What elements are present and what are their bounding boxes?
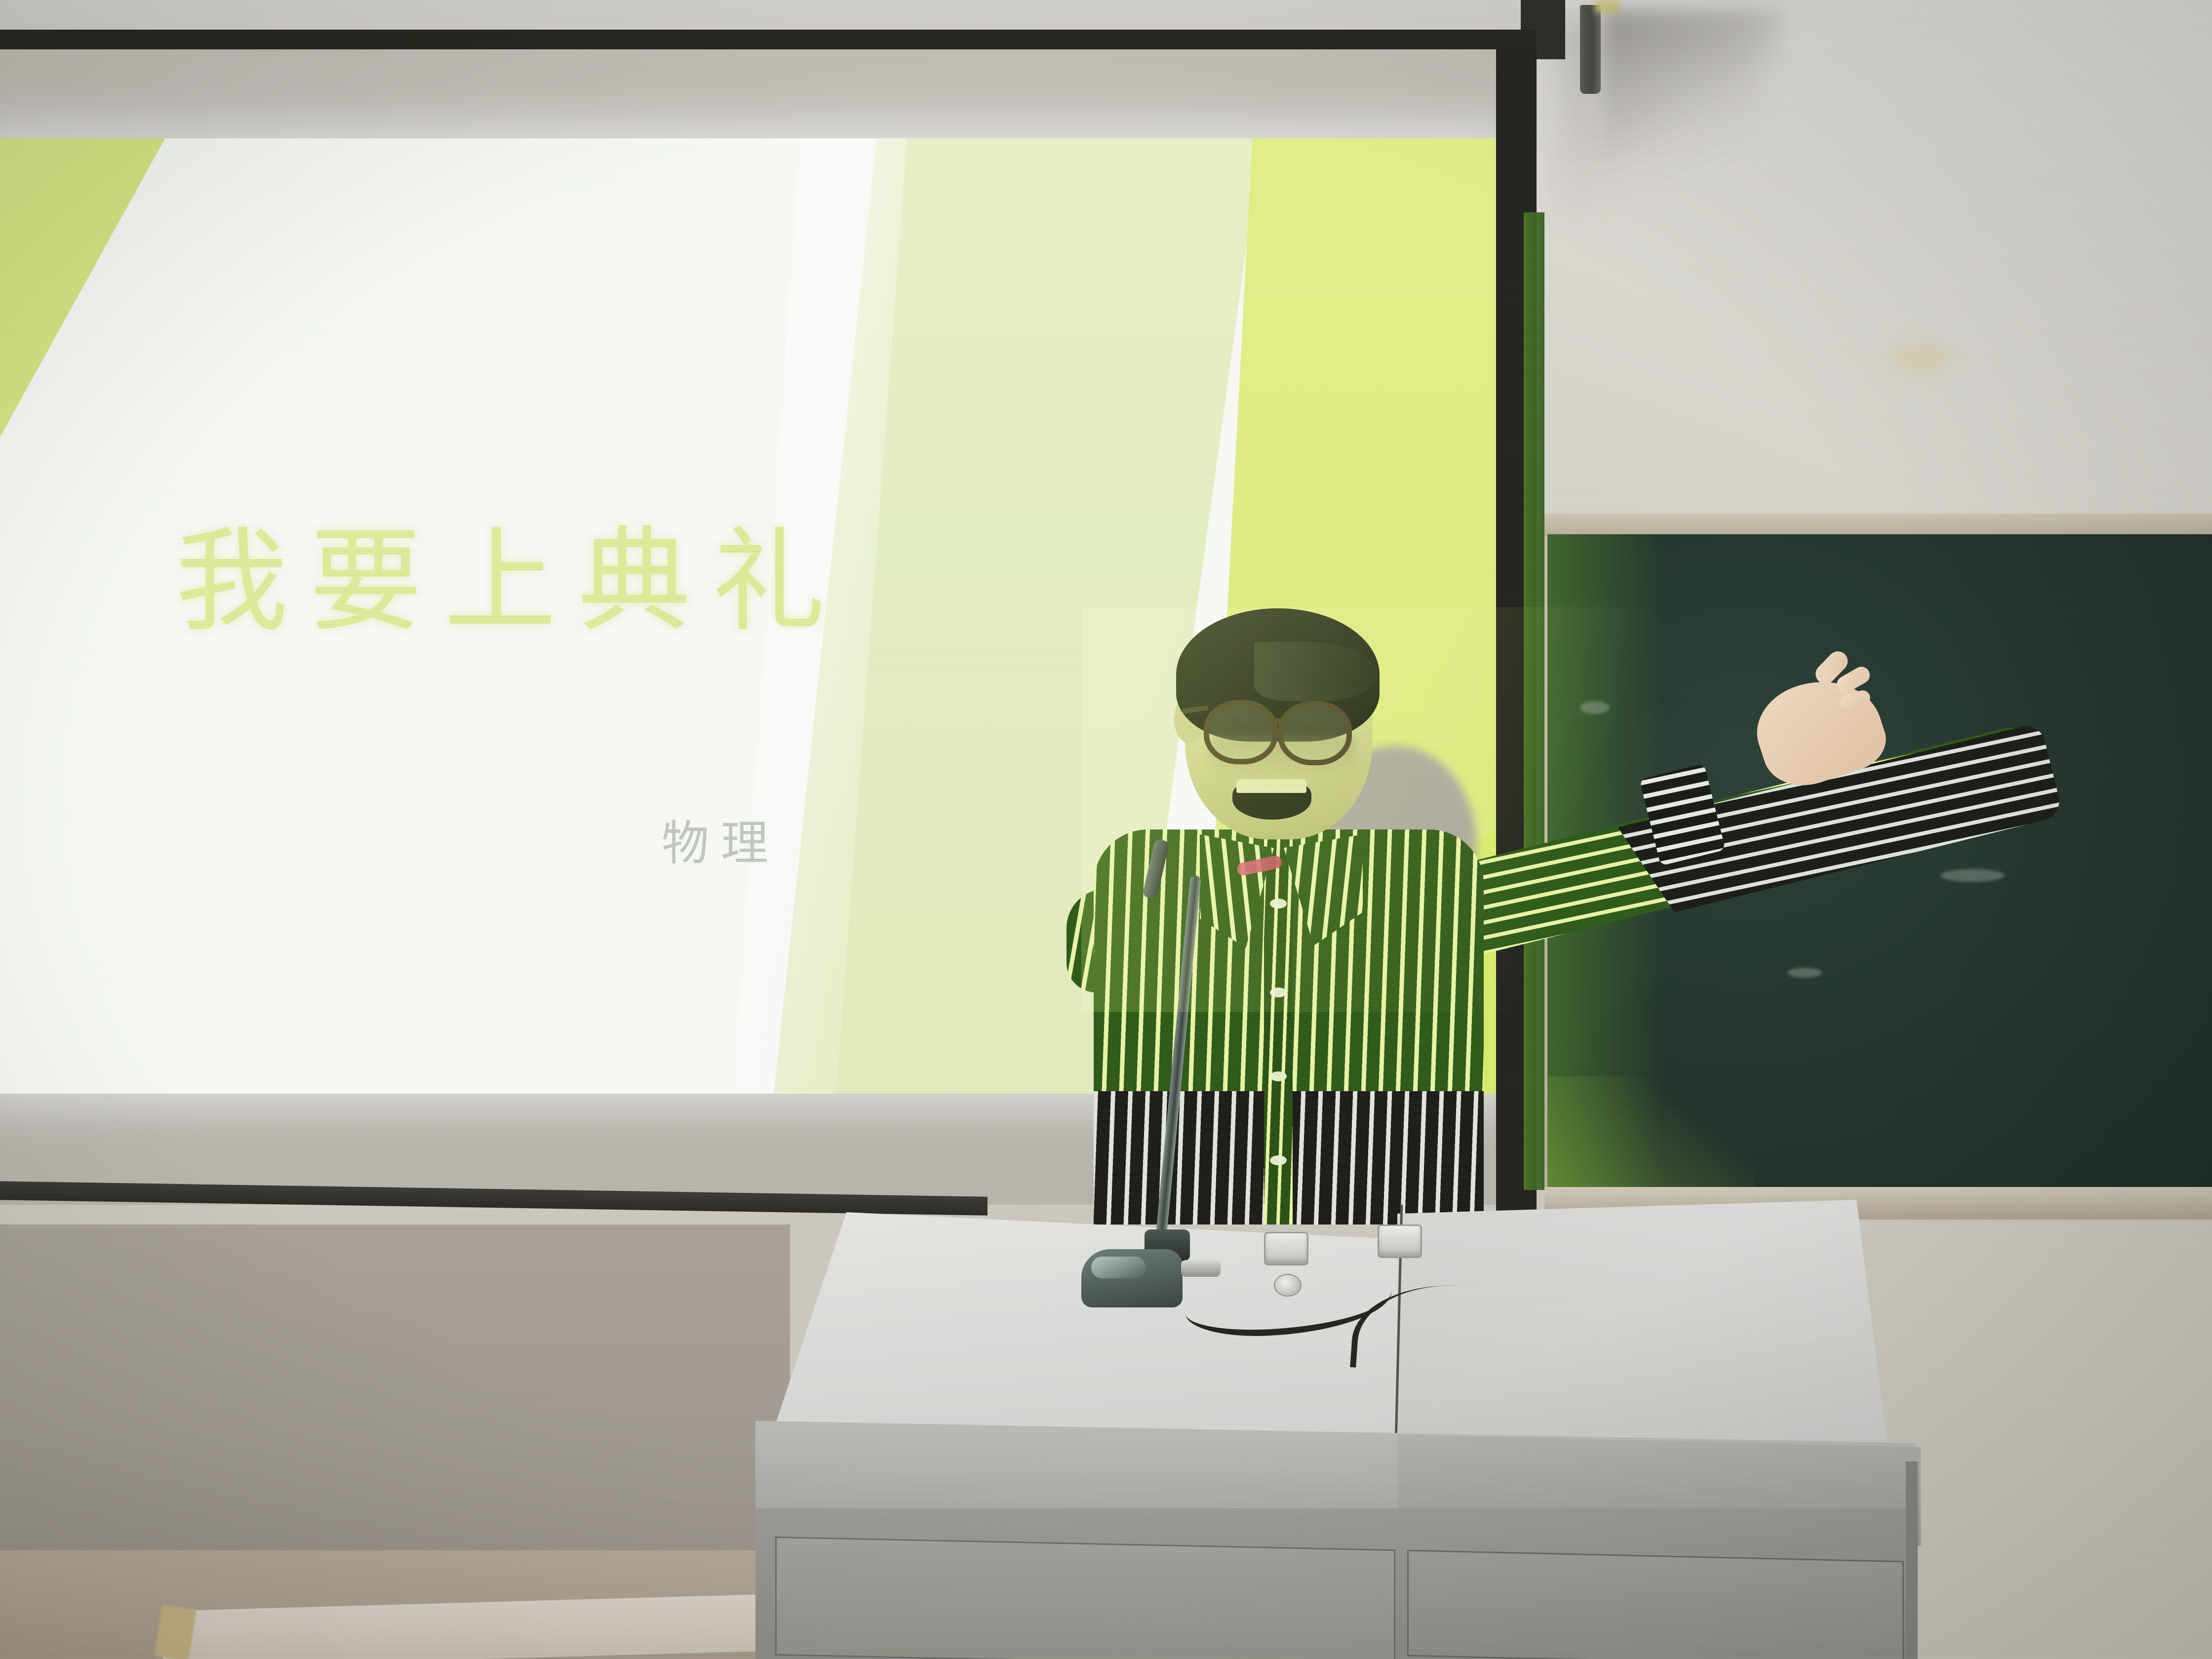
podium-latch-right[interactable] bbox=[1378, 1224, 1422, 1258]
projection-screen-top-bar bbox=[0, 30, 1536, 49]
teeth bbox=[1236, 779, 1306, 793]
glasses-bridge bbox=[1265, 718, 1282, 724]
podium-side-edge bbox=[1906, 1461, 1918, 1659]
glasses-lens-left bbox=[1204, 700, 1278, 764]
slide-shape-top-left-triangle bbox=[0, 138, 168, 509]
chalk-mark bbox=[1940, 869, 2005, 882]
podium-cabinet-door-left[interactable] bbox=[775, 1537, 1395, 1659]
chalk-mark bbox=[1787, 968, 1822, 978]
podium-latch-left[interactable] bbox=[1264, 1232, 1308, 1265]
shirt-placket bbox=[1264, 839, 1293, 1224]
bracket-shadow bbox=[1605, 10, 1782, 173]
microphone-base-highlight bbox=[1091, 1257, 1145, 1278]
shirt-button bbox=[1270, 987, 1287, 997]
photo-scene: 我要上典礼 物理 bbox=[0, 0, 2212, 1659]
podium-cabinet-door-right[interactable] bbox=[1407, 1550, 1904, 1659]
ceiling-bracket-icon bbox=[1580, 5, 1601, 94]
slide-subtitle: 物理 bbox=[662, 805, 780, 873]
chalkboard-top-rail bbox=[1544, 513, 2212, 535]
shirt-button bbox=[1270, 899, 1287, 908]
shirt-button bbox=[1270, 1071, 1287, 1081]
glasses-lens-right bbox=[1278, 701, 1352, 765]
lower-wall bbox=[0, 1224, 790, 1570]
wall-stain bbox=[1876, 336, 1965, 380]
slide-title: 我要上典礼 bbox=[175, 523, 876, 643]
shirt-button bbox=[1270, 1155, 1287, 1165]
